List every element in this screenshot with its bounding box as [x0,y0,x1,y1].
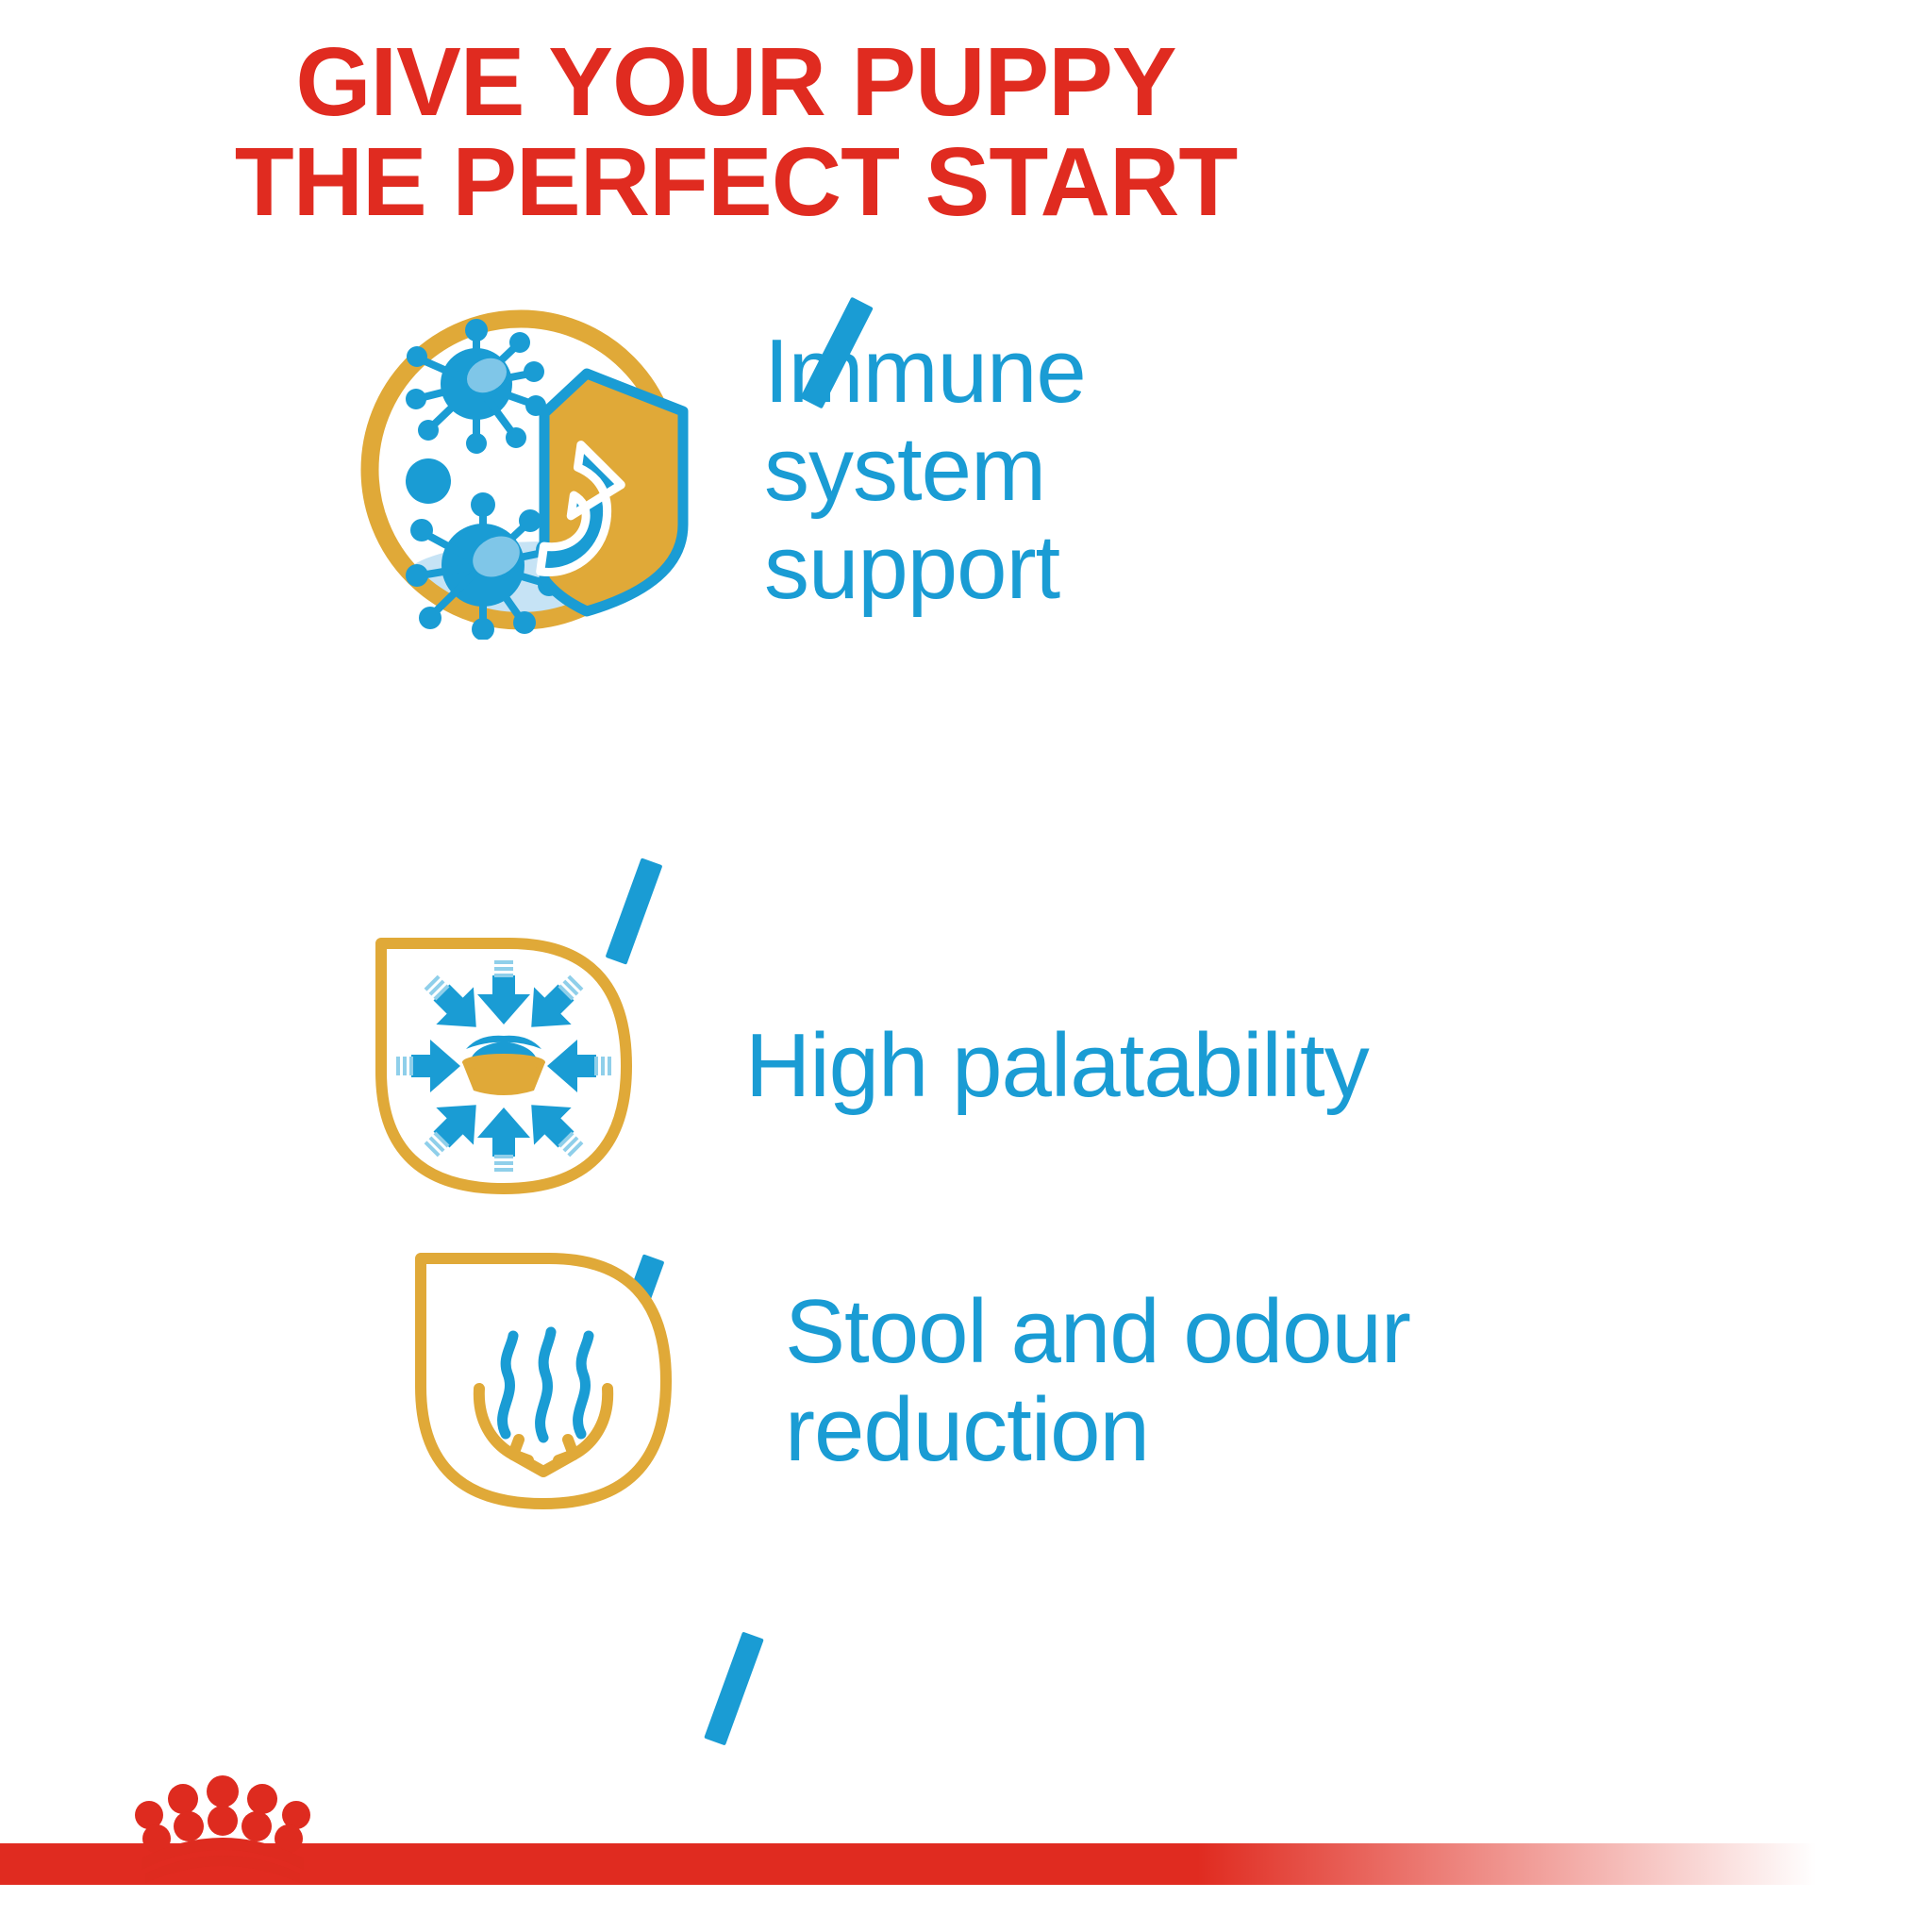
page-title: GIVE YOUR PUPPY THE PERFECT START [0,32,1472,232]
connector-dash-bottom [704,1632,764,1746]
page-title-line-1: GIVE YOUR PUPPY [0,32,1472,132]
feature-label-high-palatability: High palatability [745,1017,1594,1115]
feature-label-immune-system-support: Immune system support [764,323,1255,616]
food-bowl-arrows-shield-icon [368,930,640,1202]
feature-row-high-palatability: High palatability [351,930,1860,1202]
crown-icon [119,1775,326,1889]
food-bowl-icon [462,1036,545,1095]
page-title-line-2: THE PERFECT START [0,132,1472,232]
feature-row-stool-and-odour-reduction: Stool and odour reduction [351,1245,1898,1517]
odour-waves-down-arrow-shield-icon [408,1245,679,1517]
shield-virus-circle-icon [351,300,691,640]
feature-row-immune-system-support: Immune system support [351,300,1860,640]
virus-dot-small [406,458,451,504]
feature-label-stool-and-odour-reduction: Stool and odour reduction [785,1283,1672,1478]
